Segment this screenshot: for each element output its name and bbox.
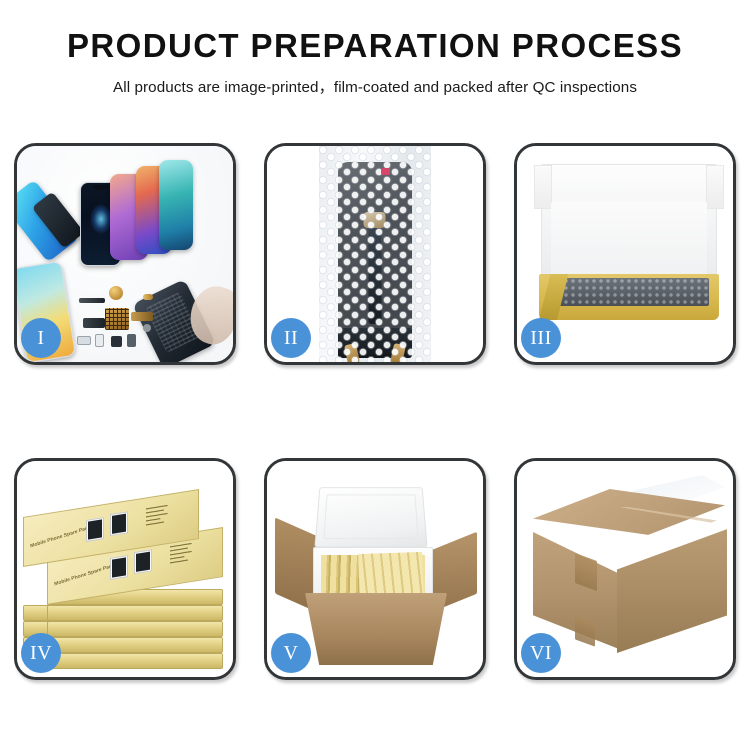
page-root: PRODUCT PREPARATION PROCESS All products… [0,0,750,750]
box-brand-label: Mobile Phone Spare Parts [54,562,116,587]
stacked-box-layer [47,605,223,621]
part-flex-cable-dark [83,318,105,328]
step-badge-3: III [521,318,561,358]
part-button [143,324,151,332]
process-step-panel-4: Mobile Phone Spare Parts ▬▬▬▬▬▬▬▬▬▬▬▬▬▬▬… [14,458,236,680]
kraft-tray-box [539,274,719,320]
stacked-box-layer [47,621,223,637]
page-header: PRODUCT PREPARATION PROCESS All products… [0,0,750,97]
bubble-wrap-bag [319,146,431,362]
part-small-plate [77,336,91,345]
step-badge-6: VI [521,633,561,673]
part-flex-cable-gold [131,312,153,321]
process-step-panel-6: VI [514,458,736,680]
box-product-photo [134,549,152,574]
box-product-photo [110,511,128,536]
box-spec-text: ▬▬▬▬▬▬▬▬▬▬▬▬▬▬▬▬▬▬▬▬▬▬▬▬▬▬ [146,503,168,526]
process-step-panel-3: III [514,143,736,365]
process-step-panel-2: II [264,143,486,365]
process-step-grid: I II III [14,143,736,680]
box-spec-text: ▬▬▬▬▬▬▬▬▬▬▬▬▬▬▬▬▬▬▬▬▬▬▬▬▬▬ [170,541,192,564]
stacked-box-layer [47,653,223,669]
bubble-texture [319,146,431,362]
part-gold-connector [143,294,153,300]
box-product-photo [86,517,104,542]
page-title: PRODUCT PREPARATION PROCESS [0,28,750,64]
foam-sheet [551,202,707,278]
foam-lid [314,487,427,547]
part-bracket [127,334,136,347]
phone-teal [159,160,193,250]
step-badge-2: II [271,318,311,358]
step-badge-1: I [21,318,61,358]
box-brand-label: Mobile Phone Spare Parts [30,524,92,549]
carton-body [305,593,447,665]
process-step-panel-1: I [14,143,236,365]
step-badge-5: V [271,633,311,673]
part-speaker-coil [109,286,123,300]
red-label-tab [381,168,390,175]
page-subtitle: All products are image-printed，film-coat… [0,75,750,97]
box-product-photo [110,555,128,580]
step-badge-4: IV [21,633,61,673]
part-screw-tray [105,308,129,330]
part-strip [79,298,105,303]
stacked-box-layer [47,637,223,653]
part-sim-tray [95,334,104,347]
part-chip [111,336,122,347]
process-step-panel-5: V [264,458,486,680]
